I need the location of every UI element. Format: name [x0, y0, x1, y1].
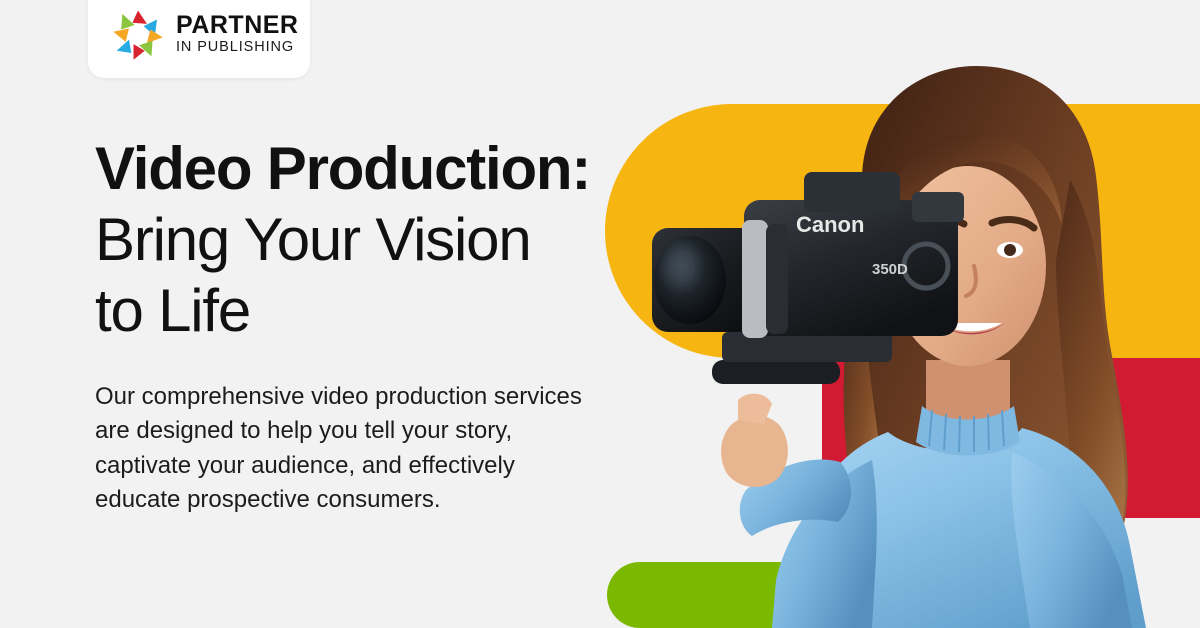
headline-line-3: to Life: [95, 277, 250, 344]
presenter-photo: Canon 350D: [626, 60, 1200, 628]
iris-right: [1004, 244, 1016, 256]
camera-rig-handle: [712, 360, 840, 384]
marketing-banner: Canon 350D: [0, 0, 1200, 628]
camera-brand-label: Canon: [796, 212, 864, 237]
lens-ring-silver: [742, 220, 768, 338]
headline-strong: Video Production:: [95, 135, 590, 202]
logo-line-in-publishing: IN PUBLISHING: [176, 40, 298, 55]
camera-grip-top: [912, 192, 964, 222]
headline-line-2: Bring Your Vision: [95, 206, 531, 273]
page-title: Video Production: Bring Your Vision to L…: [95, 134, 625, 346]
hand-left: [721, 416, 788, 487]
lens-glass: [654, 236, 726, 324]
body-paragraph: Our comprehensive video production servi…: [95, 346, 595, 516]
lens-ring-dark: [766, 224, 788, 334]
lens-highlight: [669, 250, 695, 282]
logo-card[interactable]: PARTNER IN PUBLISHING: [88, 0, 310, 78]
logo-inner: PARTNER IN PUBLISHING: [88, 6, 298, 62]
logo-line-partner: PARTNER: [176, 13, 298, 38]
camera-model-label: 350D: [872, 261, 908, 278]
camera-prism: [804, 172, 900, 212]
partner-in-publishing-pinwheel-icon: [110, 6, 166, 62]
logo-wordmark: PARTNER IN PUBLISHING: [176, 13, 298, 55]
copy-block: Video Production: Bring Your Vision to L…: [95, 134, 625, 517]
